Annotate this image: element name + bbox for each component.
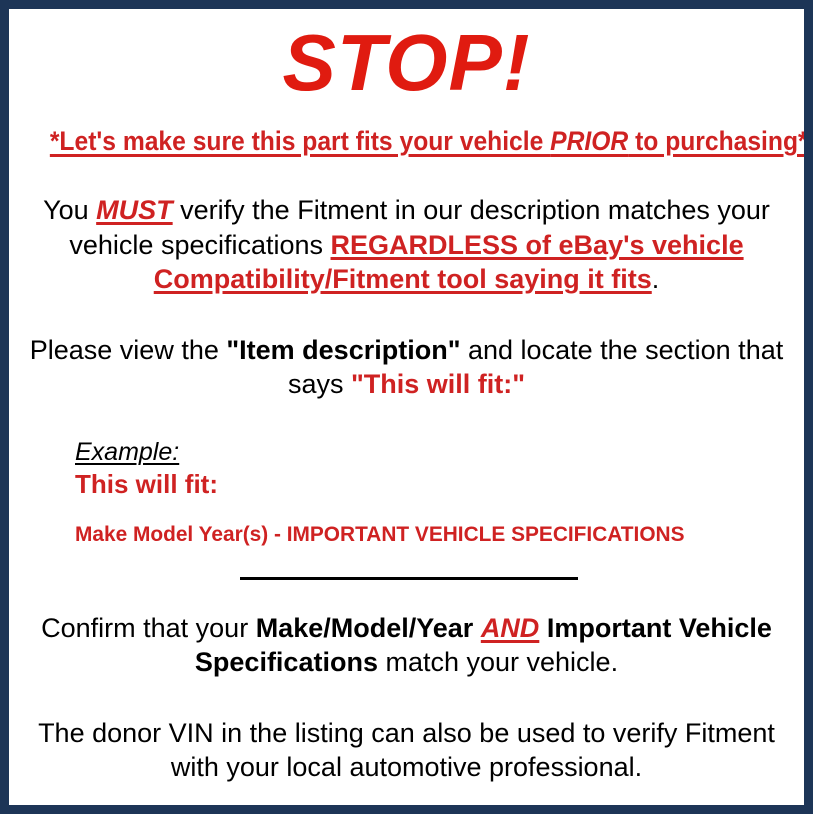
tagline-text: *Let's make sure this part fits your veh… xyxy=(50,126,808,156)
para2-emphasis-this-will-fit: "This will fit:" xyxy=(351,369,525,399)
paragraph-item-description: Please view the "Item description" and l… xyxy=(23,333,790,402)
para1-seg1: You xyxy=(43,195,96,225)
example-label: Example: xyxy=(75,438,790,467)
para3-seg1: Confirm that your xyxy=(41,613,256,643)
para3-emphasis-make-model-year: Make/Model/Year xyxy=(256,613,474,643)
example-fit-heading: This will fit: xyxy=(75,469,790,500)
notice-content: STOP! *Let's make sure this part fits yo… xyxy=(9,23,804,814)
para2-seg1: Please view the xyxy=(30,335,227,365)
fitment-notice-banner: STOP! *Let's make sure this part fits yo… xyxy=(0,0,813,814)
para1-seg3: . xyxy=(652,264,660,294)
page-title: STOP! xyxy=(23,23,790,103)
tagline-emphasis: PRIOR xyxy=(550,126,628,156)
horizontal-divider xyxy=(240,577,578,580)
tagline-after: to purchasing* xyxy=(628,126,807,156)
paragraph-confirm-match: Confirm that your Make/Model/Year AND Im… xyxy=(23,611,790,680)
paragraph-verify-fitment: You MUST verify the Fitment in our descr… xyxy=(23,193,790,297)
para3-emphasis-and: AND xyxy=(481,613,540,643)
tagline: *Let's make sure this part fits your veh… xyxy=(50,127,763,156)
example-specification: Make Model Year(s) - IMPORTANT VEHICLE S… xyxy=(75,522,769,547)
para3-seg2 xyxy=(473,613,481,643)
tagline-before: *Let's make sure this part fits your veh… xyxy=(50,126,550,156)
paragraph-donor-vin: The donor VIN in the listing can also be… xyxy=(23,716,790,785)
para2-emphasis-item-description: "Item description" xyxy=(226,335,460,365)
para3-seg4: match your vehicle. xyxy=(378,647,618,677)
divider-wrapper xyxy=(23,577,790,589)
para3-seg3 xyxy=(539,613,547,643)
example-block: Example: This will fit: Make Model Year(… xyxy=(23,438,790,547)
para1-emphasis-must: MUST xyxy=(96,195,173,225)
